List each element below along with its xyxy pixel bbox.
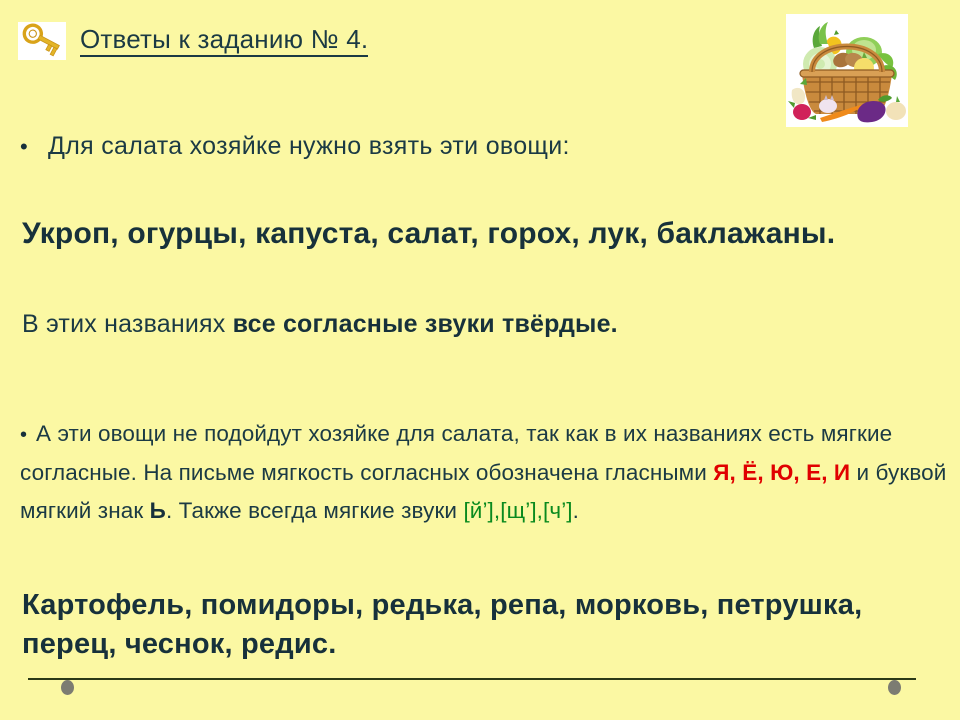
vegetable-basket-image (786, 14, 908, 127)
golden-key-icon (18, 22, 66, 60)
bullet-first-text: Для салата хозяйке нужно взять эти овощи… (48, 132, 570, 161)
soft-sign-letter: Ь (150, 498, 166, 523)
bullet-marker: • (20, 425, 36, 445)
always-soft-sounds: [й’],[щ’],[ч’] (463, 498, 572, 523)
softening-vowels: Я, Ё, Ю, Е, И (713, 460, 850, 485)
second-paragraph-part3: . Также всегда мягкие звуки (166, 498, 464, 523)
bullet-marker: • (20, 136, 38, 158)
slide-title-row: Ответы к заданию № 4. (18, 22, 368, 60)
hard-consonants-note: В этих названиях все согласные звуки твё… (22, 310, 618, 339)
hard-note-bold: все согласные звуки твёрдые. (233, 310, 618, 338)
salad-vegetables-list: Укроп, огурцы, капуста, салат, горох, лу… (22, 214, 922, 254)
slide-canvas: Ответы к заданию № 4. (0, 0, 960, 720)
bullet-second-paragraph: •А эти овощи не подойдут хозяйке для сал… (20, 415, 950, 531)
second-paragraph-part4: . (573, 498, 579, 523)
footer-dot-right (888, 680, 901, 695)
footer-divider (28, 678, 916, 680)
bullet-first-line: • Для салата хозяйке нужно взять эти ово… (20, 132, 570, 161)
footer-dot-left (61, 680, 74, 695)
hard-note-plain: В этих названиях (22, 310, 233, 338)
not-salad-vegetables-list: Картофель, помидоры, редька, репа, морко… (22, 586, 942, 663)
page-title: Ответы к заданию № 4. (80, 25, 368, 58)
